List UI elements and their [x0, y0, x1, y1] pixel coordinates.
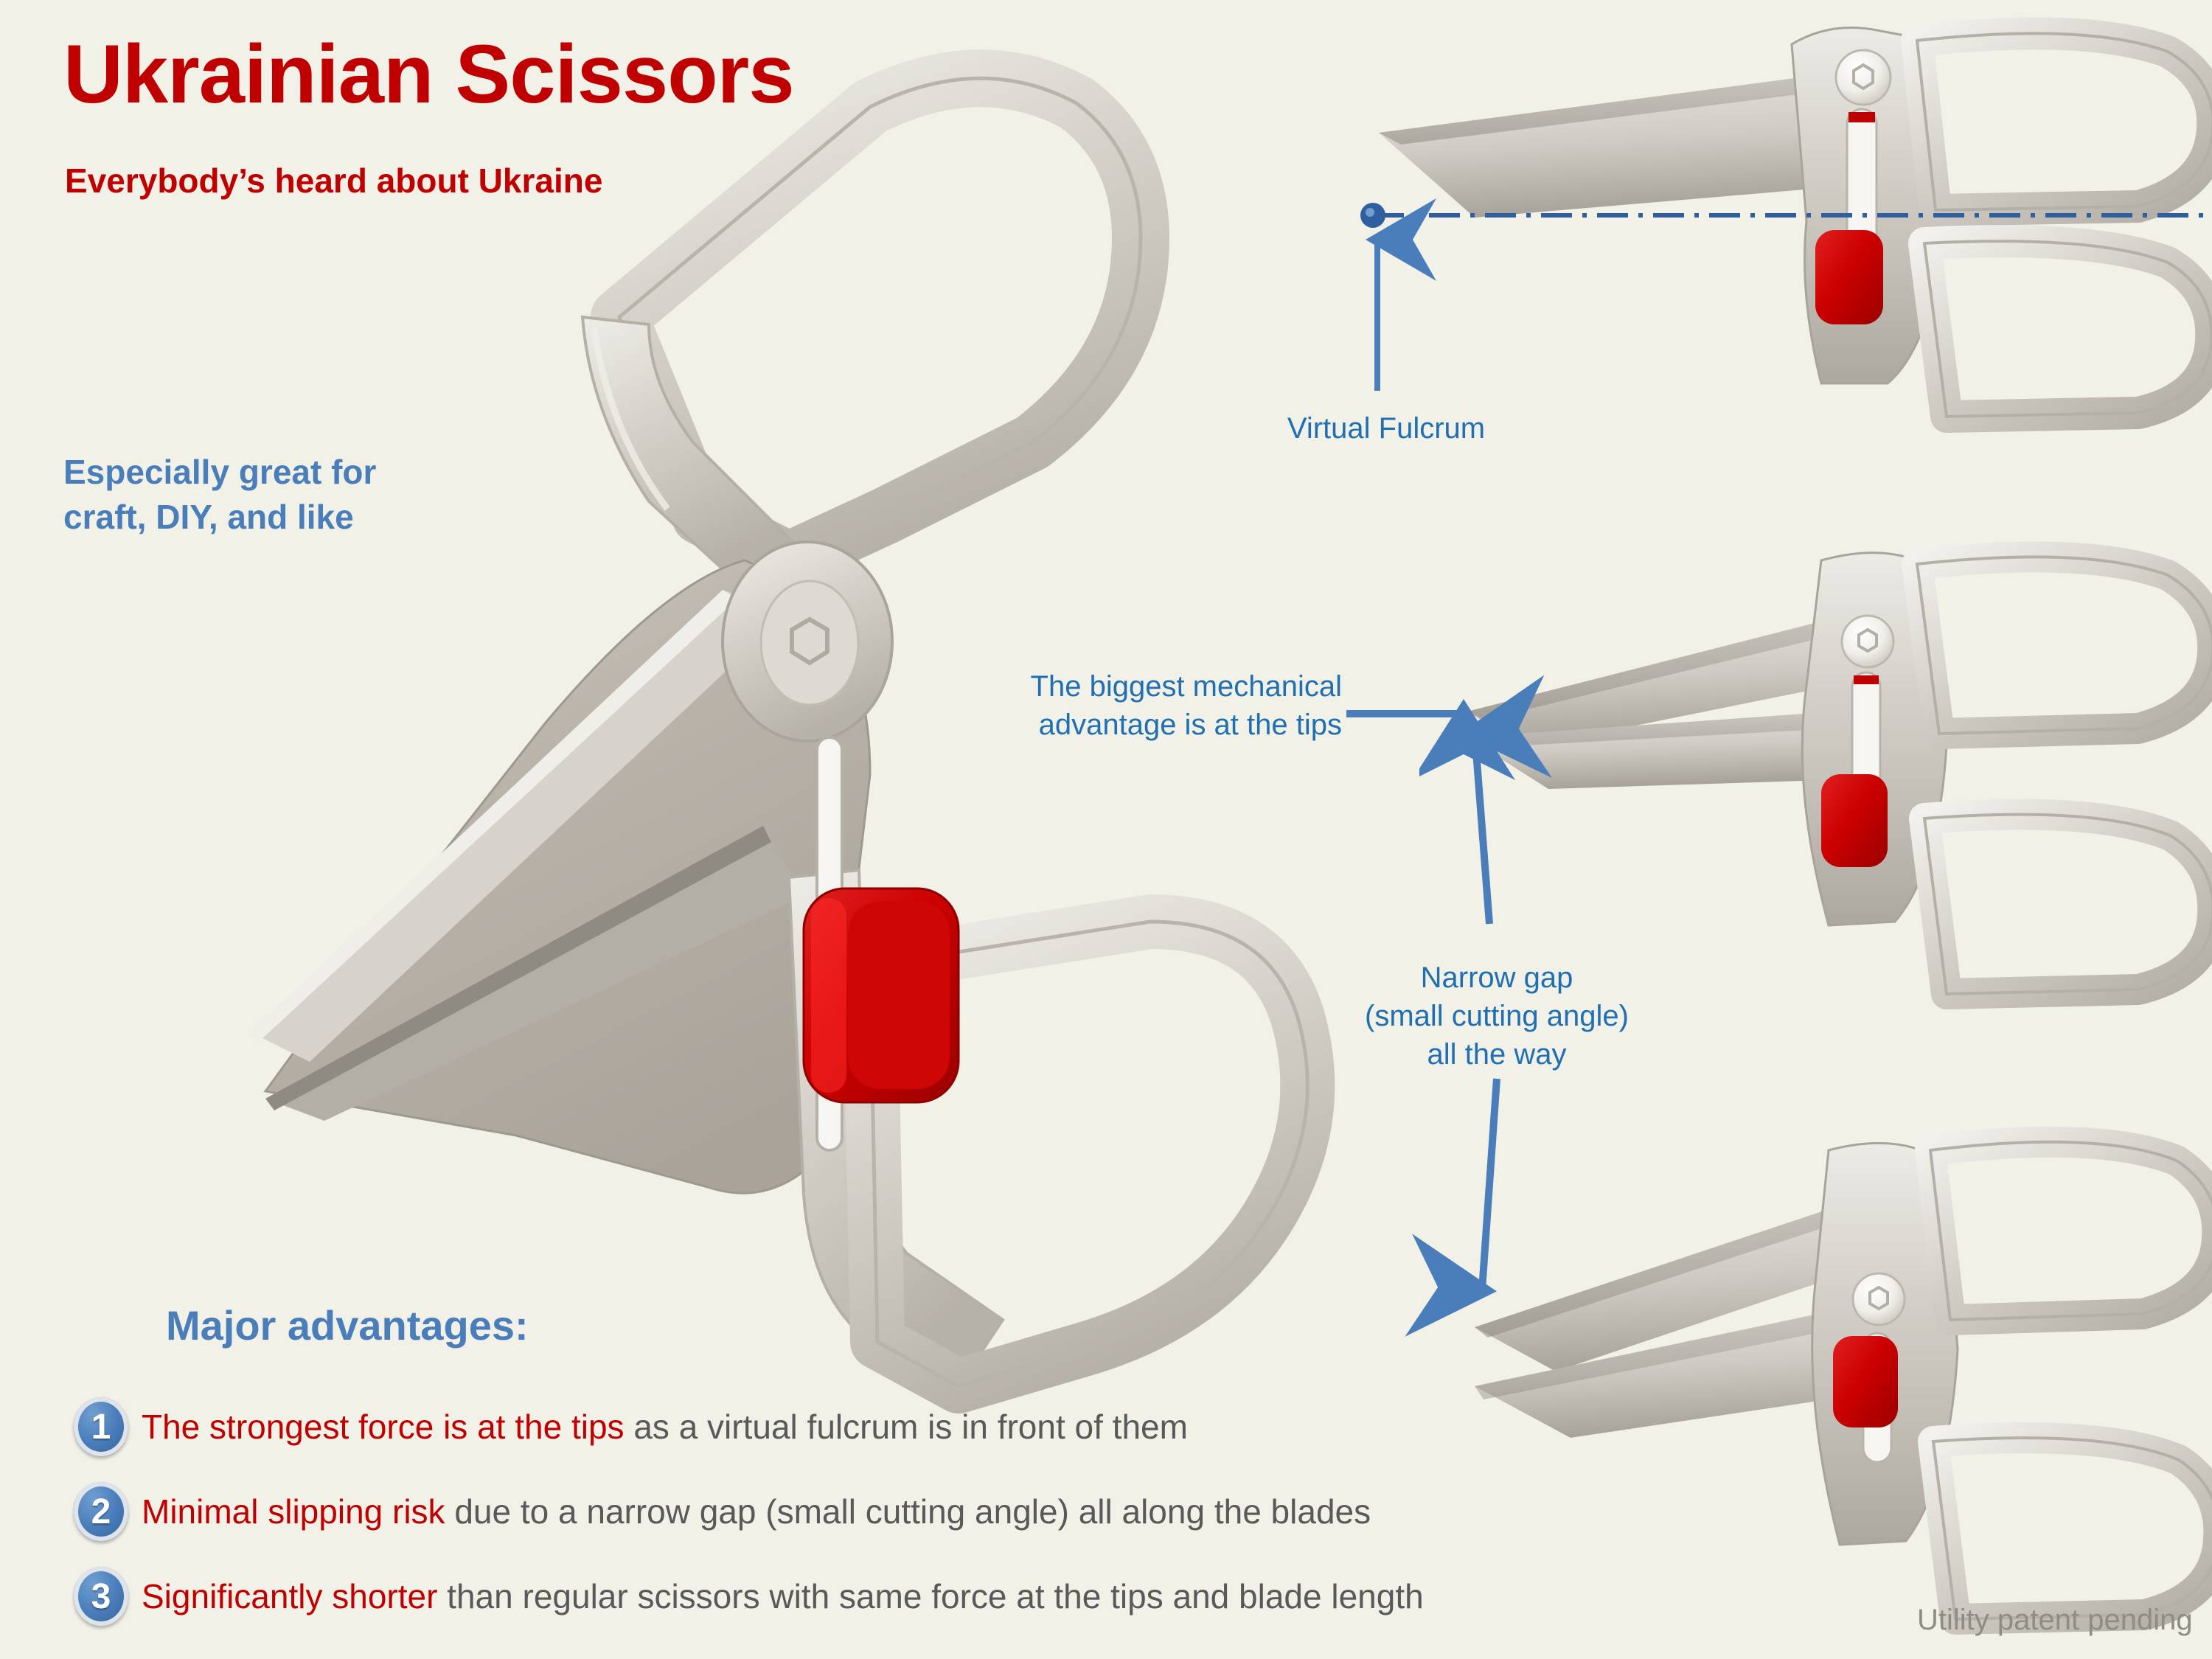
- hero-red-grip: [804, 888, 959, 1102]
- fulcrum-axis-line: [1360, 203, 2212, 228]
- advantage-rest: due to a narrow gap (small cutting angle…: [445, 1492, 1371, 1531]
- page-title: Ukrainian Scissors: [63, 32, 794, 116]
- advantage-item-1: 1 The strongest force is at the tips as …: [74, 1397, 1188, 1456]
- advantage-rest: than regular scissors with same force at…: [437, 1577, 1423, 1615]
- advantage-text: The strongest force is at the tips as a …: [142, 1407, 1188, 1447]
- narrow-gap-arrow-down: [1482, 1079, 1497, 1290]
- slide-canvas: Ukrainian Scissors Everybody’s heard abo…: [0, 0, 2212, 1659]
- annotation-biggest-advantage: The biggest mechanical advantage is at t…: [973, 667, 1342, 744]
- advantage-item-3: 3 Significantly shorter than regular sci…: [74, 1567, 1424, 1626]
- advantage-highlight: The strongest force is at the tips: [142, 1408, 625, 1446]
- thumbnail-scissors-narrow-gap: [1467, 553, 2212, 994]
- thumbnail-scissors-open: [1475, 1142, 2212, 1619]
- advantages-heading: Major advantages:: [166, 1301, 529, 1349]
- footer-patent-notice: Utility patent pending: [1917, 1604, 2193, 1637]
- page-subtitle: Everybody’s heard about Ukraine: [65, 161, 602, 201]
- advantage-highlight: Significantly shorter: [142, 1577, 437, 1615]
- annotation-narrow-gap: Narrow gap (small cutting angle) all the…: [1360, 959, 1633, 1074]
- advantage-highlight: Minimal slipping risk: [142, 1492, 445, 1531]
- advantage-item-2: 2 Minimal slipping risk due to a narrow …: [74, 1482, 1371, 1541]
- tagline: Especially great for craft, DIY, and lik…: [63, 450, 376, 539]
- thumbnail-scissors-closed: [1379, 28, 2212, 417]
- advantage-text: Minimal slipping risk due to a narrow ga…: [142, 1492, 1371, 1531]
- annotation-virtual-fulcrum: Virtual Fulcrum: [1253, 409, 1519, 448]
- advantage-number-badge: 1: [74, 1397, 128, 1456]
- advantage-number-badge: 3: [74, 1567, 128, 1626]
- advantage-number-badge: 2: [74, 1482, 128, 1541]
- advantage-text: Significantly shorter than regular sciss…: [142, 1576, 1424, 1616]
- narrow-gap-arrow-up: [1475, 732, 1489, 924]
- advantage-rest: as a virtual fulcrum is in front of them: [625, 1408, 1188, 1446]
